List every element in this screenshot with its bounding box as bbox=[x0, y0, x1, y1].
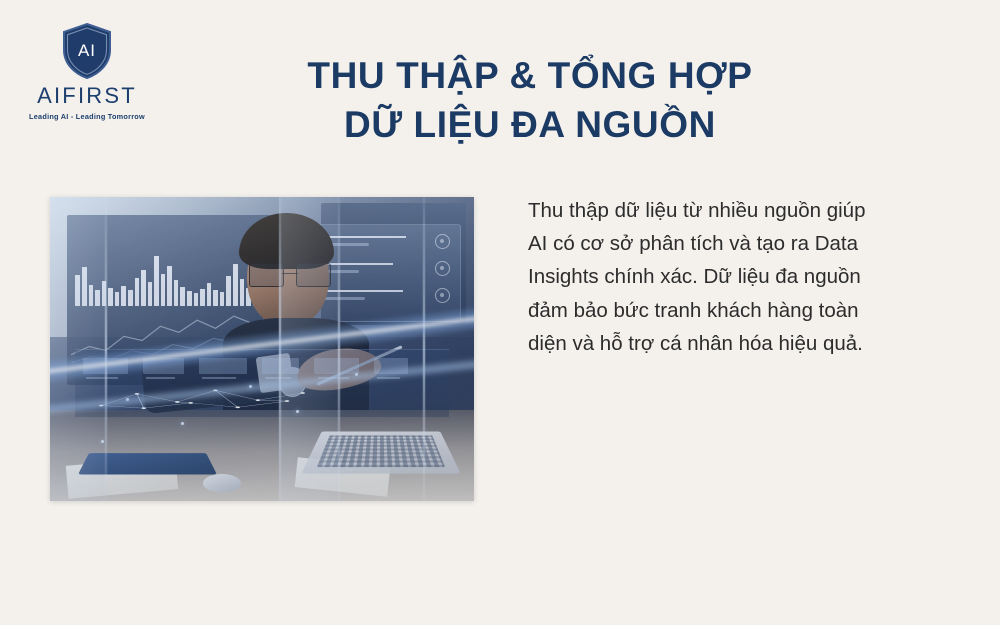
shield-ai-mark: AI bbox=[78, 41, 96, 60]
brand-logo[interactable]: AI AIFIRST Leading AI - Leading Tomorrow bbox=[22, 22, 152, 120]
body-paragraph: Thu thập dữ liệu từ nhiều nguồn giúp AI … bbox=[528, 194, 888, 360]
logo-tagline: Leading AI - Leading Tomorrow bbox=[22, 113, 152, 120]
photo-hud-dot-icon bbox=[435, 288, 450, 303]
title-line-2: DỮ LIỆU ĐA NGUỒN bbox=[180, 101, 880, 150]
logo-wordmark: AIFIRST bbox=[22, 85, 152, 107]
slide-canvas: AI AIFIRST Leading AI - Leading Tomorrow… bbox=[0, 0, 1000, 625]
title-line-1: THU THẬP & TỔNG HỢP bbox=[180, 52, 880, 101]
photo-hud-dot-icon bbox=[435, 234, 450, 249]
hero-photo bbox=[50, 197, 474, 501]
photo-hud-dot-icon bbox=[435, 261, 450, 276]
photo-mouse bbox=[203, 474, 241, 492]
shield-ai-icon: AI bbox=[61, 22, 113, 80]
page-title: THU THẬP & TỔNG HỢP DỮ LIỆU ĐA NGUỒN bbox=[180, 52, 880, 150]
photo-illustration bbox=[50, 197, 474, 501]
body-copy: Thu thập dữ liệu từ nhiều nguồn giúp AI … bbox=[528, 194, 888, 360]
